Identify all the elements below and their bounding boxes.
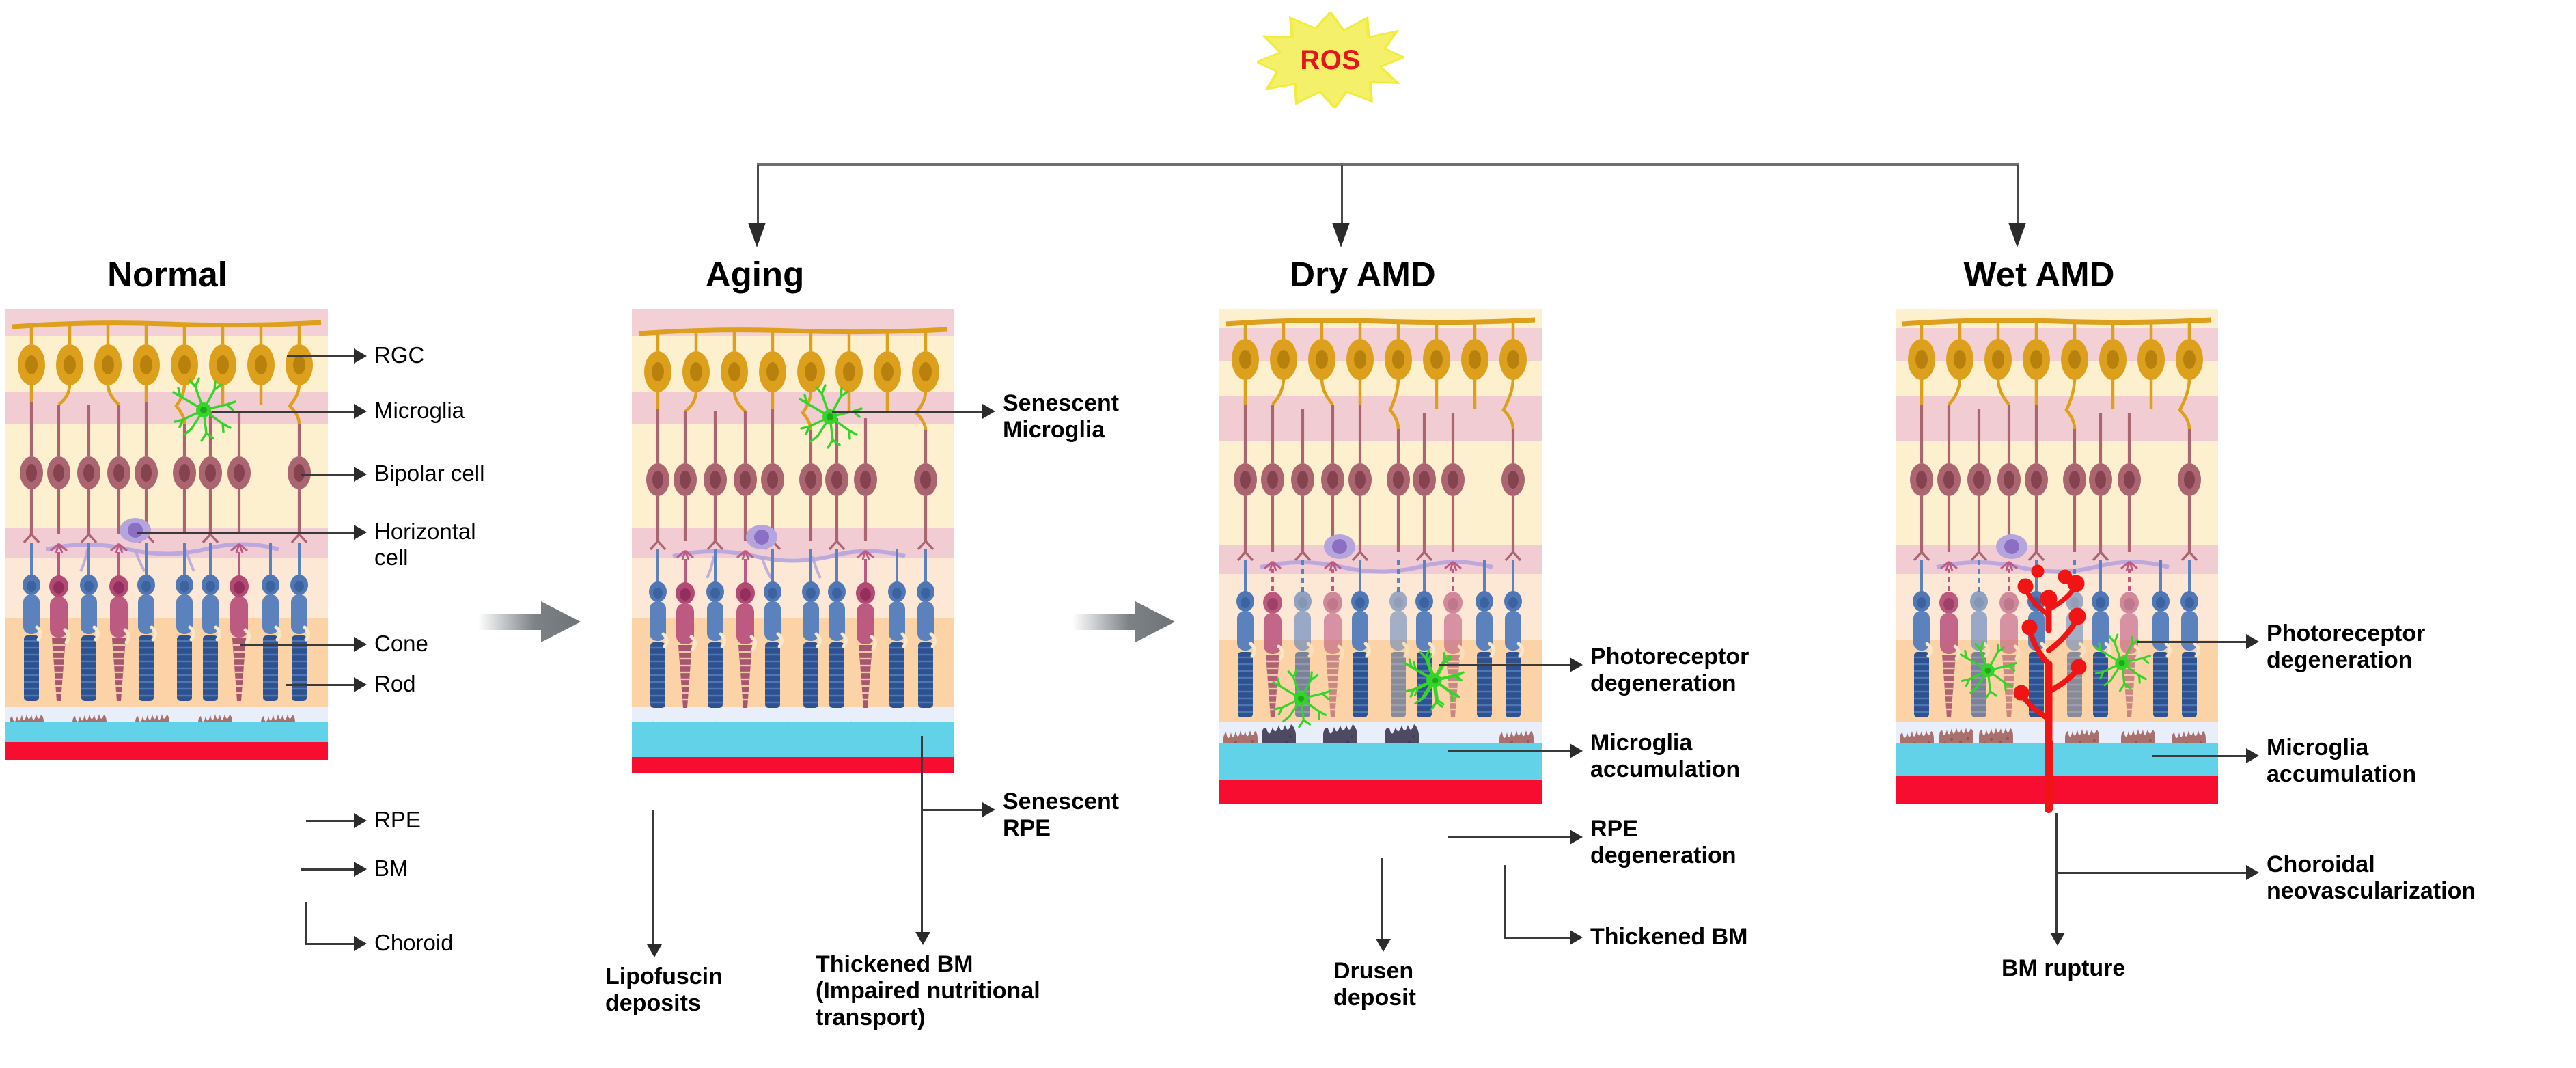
panel-title-wet-amd: Wet AMD — [1872, 254, 2206, 295]
bm-layer-wet-amd — [1896, 743, 2218, 776]
arrowhead-choroid — [354, 936, 367, 951]
arrowhead-bm-rupture — [2050, 933, 2065, 946]
ros-burst: ROS — [1257, 12, 1404, 108]
arrowhead-senescent-microglia — [982, 404, 995, 419]
label-cone: Cone — [374, 631, 428, 657]
ros-distribution-bus — [757, 163, 2019, 166]
ros-label: ROS — [1300, 45, 1360, 76]
label-photoreceptor-degeneration-dry: Photoreceptor degeneration — [1590, 644, 1749, 697]
ros-stem-dry-amd — [1341, 165, 1343, 225]
label-bipolar-cell: Bipolar cell — [374, 461, 484, 487]
arrowhead-microglia-accumulation-wet — [2246, 748, 2259, 763]
retina-cells-wet-amd — [1896, 309, 2218, 780]
leader-rod — [286, 684, 355, 686]
leader-horizontal-cell — [137, 532, 355, 534]
leader-rpe — [306, 820, 355, 822]
label-rgc: RGC — [374, 342, 424, 368]
leader-bm — [301, 868, 355, 871]
arrowhead-lipofuscin — [647, 944, 662, 957]
bm-layer-dry-amd-thickened — [1219, 743, 1542, 780]
arrowhead-rpe — [354, 813, 367, 828]
label-microglia: Microglia — [374, 398, 465, 424]
choroid-layer-normal — [5, 742, 328, 760]
label-photoreceptor-degeneration-wet: Photoreceptor degeneration — [2267, 620, 2425, 674]
ros-arrowhead-aging — [748, 223, 766, 247]
arrowhead-drusen — [1376, 939, 1391, 952]
label-thickened-bm-dry: Thickened BM — [1590, 924, 1747, 950]
label-lipofuscin-deposits: Lipofuscin deposits — [605, 963, 723, 1017]
retina-cells-dry-amd — [1219, 309, 1542, 780]
leader-thickened-bm-dry — [1504, 937, 1571, 939]
leader-choroid — [305, 943, 355, 945]
panel-title-normal: Normal — [0, 254, 335, 295]
ros-stem-aging — [757, 165, 759, 225]
leader-bm-rupture-vertical — [2055, 813, 2058, 935]
retina-panel-dry-amd — [1219, 309, 1542, 780]
arrowhead-bm — [354, 862, 367, 877]
label-senescent-microglia: Senescent Microglia — [1003, 390, 1119, 443]
ros-stem-wet-amd — [2017, 165, 2019, 225]
leader-choroid-vertical — [305, 902, 307, 944]
label-rpe: RPE — [374, 807, 421, 833]
arrowhead-rod — [354, 677, 367, 692]
label-microglia-accumulation-dry: Microglia accumulation — [1590, 730, 1740, 783]
progression-arrow-normal-to-aging — [478, 600, 581, 644]
arrowhead-microglia-accumulation-dry — [1570, 743, 1583, 758]
arrowhead-senescent-rpe — [982, 802, 995, 817]
arrowhead-microglia — [354, 404, 367, 419]
label-senescent-rpe: Senescent RPE — [1003, 789, 1119, 842]
bm-rupture-vessel-stem — [2045, 738, 2053, 813]
arrowhead-choroidal-neovascularization — [2246, 865, 2259, 880]
leader-cone — [240, 644, 355, 646]
arrowhead-thickened-bm-dry — [1570, 930, 1583, 945]
label-thickened-bm-aging: Thickened BM (Impaired nutritional trans… — [816, 951, 1040, 1031]
leader-thickened-bm-vertical-aging — [921, 736, 923, 934]
panel-title-aging: Aging — [587, 254, 922, 295]
bm-layer-normal — [5, 722, 328, 742]
choroid-layer-aging — [632, 757, 954, 773]
leader-drusen-vertical — [1381, 858, 1383, 941]
leader-choroidal-neovascularization — [2056, 872, 2247, 874]
leader-microglia-accumulation-dry — [1448, 750, 1571, 752]
label-choroid: Choroid — [374, 930, 454, 956]
label-rpe-degeneration: RPE degeneration — [1590, 816, 1736, 869]
leader-thickened-bm-dry-vertical — [1504, 865, 1506, 939]
ros-arrowhead-dry-amd — [1332, 223, 1350, 247]
retina-panel-normal — [5, 309, 328, 760]
retina-panel-wet-amd — [1896, 309, 2218, 780]
choroid-layer-wet-amd — [1896, 776, 2218, 804]
leader-rpe-degeneration — [1448, 836, 1571, 838]
arrowhead-rgc — [354, 348, 367, 364]
leader-microglia-accumulation-wet — [2152, 755, 2247, 757]
arrowhead-bipolar-cell — [354, 467, 367, 482]
label-choroidal-neovascularization: Choroidal neovascularization — [2267, 851, 2476, 905]
arrowhead-rpe-degeneration — [1570, 830, 1583, 845]
panel-title-dry-amd: Dry AMD — [1195, 254, 1530, 295]
label-rod: Rod — [374, 671, 416, 697]
arrowhead-horizontal-cell — [354, 525, 367, 540]
arrowhead-cone — [354, 637, 367, 652]
arrowhead-thickened-bm-aging — [915, 932, 930, 945]
arrowhead-photoreceptor-degeneration-dry — [1570, 657, 1583, 672]
leader-senescent-rpe — [921, 809, 984, 811]
leader-bipolar-cell — [301, 474, 355, 476]
bm-layer-aging-thickened — [632, 722, 954, 757]
label-bm: BM — [374, 855, 408, 881]
ros-arrowhead-wet-amd — [2008, 223, 2026, 247]
retina-panel-aging — [632, 309, 954, 773]
leader-rgc — [287, 355, 355, 357]
retina-cells-aging — [632, 309, 954, 773]
leader-senescent-microglia — [832, 411, 984, 413]
leader-microglia — [212, 411, 355, 413]
leader-lipofuscin-vertical — [652, 810, 654, 946]
progression-arrow-aging-to-dry-amd — [1072, 600, 1175, 644]
leader-photoreceptor-degeneration-wet — [2137, 641, 2247, 643]
arrowhead-photoreceptor-degeneration-wet — [2246, 634, 2259, 649]
label-microglia-accumulation-wet: Microglia accumulation — [2267, 735, 2416, 788]
label-bm-rupture: BM rupture — [2002, 955, 2125, 982]
choroid-layer-dry-amd — [1219, 780, 1542, 804]
label-horizontal-cell: Horizontal cell — [374, 519, 476, 571]
label-drusen-deposit: Drusen deposit — [1333, 958, 1416, 1011]
retina-cells-normal — [5, 309, 328, 760]
leader-photoreceptor-degeneration-dry — [1439, 664, 1571, 666]
